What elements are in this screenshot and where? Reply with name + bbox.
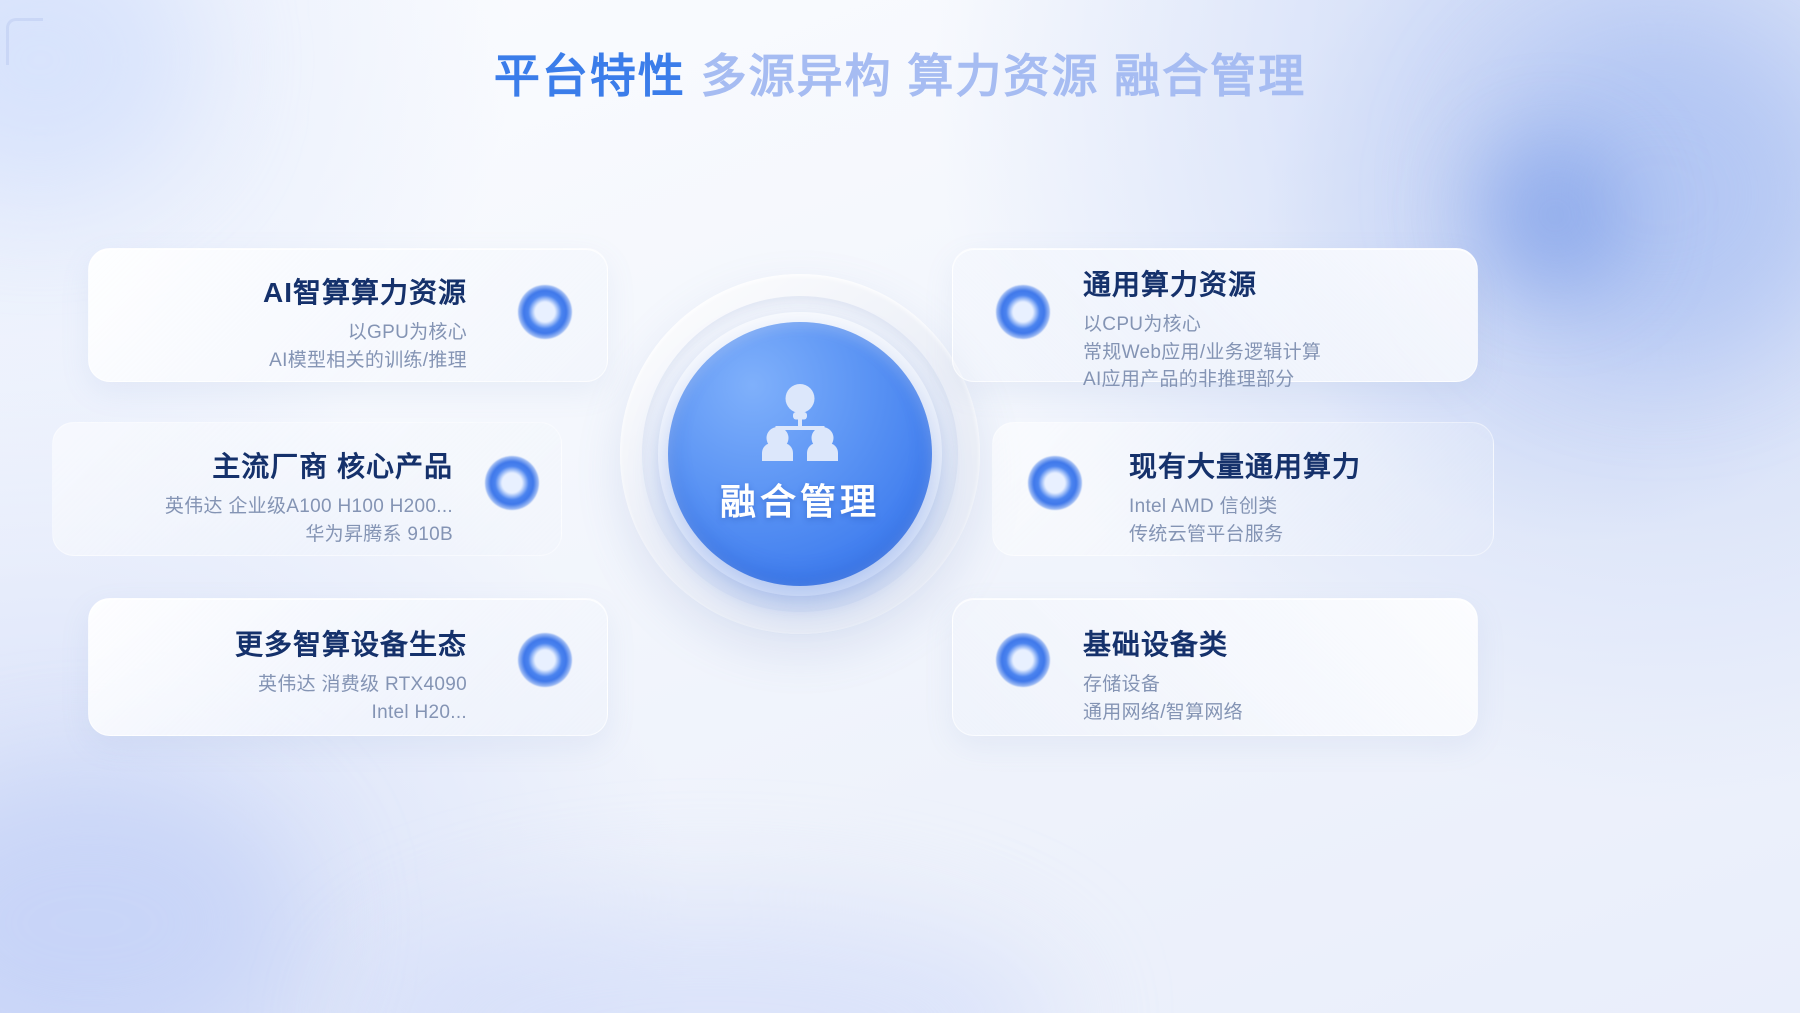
decorative-blob-bottom-left bbox=[0, 773, 300, 1013]
card-subtitle-line-1: 英伟达 企业级A100 H100 H200... bbox=[165, 493, 453, 521]
card-subtitle-line-1: 英伟达 消费级 RTX4090 bbox=[235, 671, 467, 699]
page-title-soft: 多源异构 算力资源 融合管理 bbox=[701, 50, 1307, 102]
card-subtitle-line-2: 传统云管平台服务 bbox=[1129, 521, 1361, 549]
node-dot-device-ecosystem[interactable] bbox=[518, 633, 572, 687]
card-subtitle-line-2: AI模型相关的训练/推理 bbox=[263, 347, 467, 375]
card-title: 更多智算设备生态 bbox=[235, 623, 467, 663]
card-title: 通用算力资源 bbox=[1083, 263, 1321, 303]
card-subtitle-line-1: 存储设备 bbox=[1083, 671, 1243, 699]
card-subtitle-line-2: 华为昇腾系 910B bbox=[165, 521, 453, 549]
card-title: 现有大量通用算力 bbox=[1129, 445, 1361, 485]
card-subtitle-line-1: 以GPU为核心 bbox=[263, 319, 467, 347]
card-title: AI智算算力资源 bbox=[263, 271, 467, 311]
infographic-canvas: 平台特性 多源异构 算力资源 融合管理 融合管理 AI智算算 bbox=[0, 0, 1800, 1013]
node-dot-vendors[interactable] bbox=[485, 456, 539, 510]
card-subtitle-line-2: 常规Web应用/业务逻辑计算 bbox=[1083, 339, 1321, 367]
center-hub: 融合管理 bbox=[620, 178, 980, 738]
card-subtitle-line-2: Intel H20... bbox=[235, 699, 467, 727]
hub-core-label: 融合管理 bbox=[720, 473, 880, 525]
node-dot-infrastructure[interactable] bbox=[996, 633, 1050, 687]
node-dot-ai-compute[interactable] bbox=[518, 285, 572, 339]
decorative-blob-bottom-center bbox=[360, 903, 1060, 1013]
card-subtitle-line-1: 以CPU为核心 bbox=[1083, 311, 1321, 339]
card-subtitle-line-2: 通用网络/智算网络 bbox=[1083, 699, 1243, 727]
card-subtitle-line-1: Intel AMD 信创类 bbox=[1129, 493, 1361, 521]
card-title: 主流厂商 核心产品 bbox=[165, 445, 453, 485]
node-dot-existing-compute[interactable] bbox=[1028, 456, 1082, 510]
card-subtitle-line-3: AI应用产品的非推理部分 bbox=[1083, 366, 1321, 394]
decorative-blob-accent bbox=[1480, 140, 1630, 290]
hub-core[interactable]: 融合管理 bbox=[668, 322, 932, 586]
node-dot-general-compute[interactable] bbox=[996, 285, 1050, 339]
team-collaboration-icon bbox=[757, 383, 843, 461]
page-title: 平台特性 多源异构 算力资源 融合管理 bbox=[0, 48, 1800, 106]
page-title-strong: 平台特性 bbox=[494, 50, 686, 102]
card-title: 基础设备类 bbox=[1083, 623, 1243, 663]
